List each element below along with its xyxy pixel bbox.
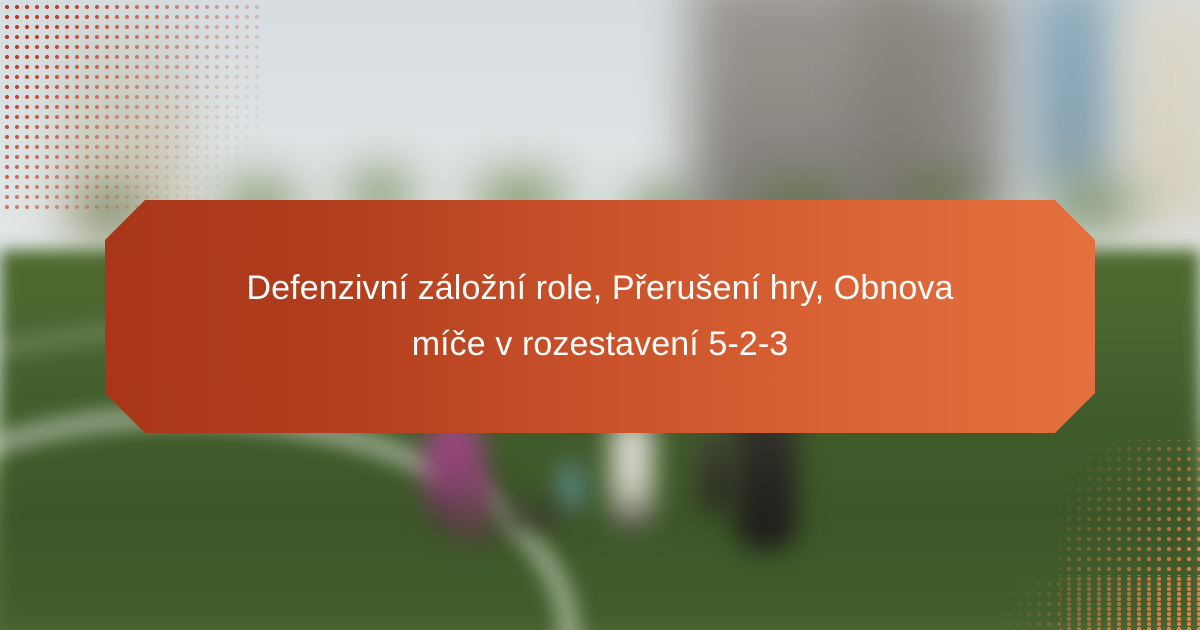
banner-title-text: Defenzivní záložní role, Přerušení hry, …: [205, 261, 995, 371]
player-figure-teal: [560, 462, 582, 512]
player-figure-white: [610, 420, 654, 532]
title-banner: Defenzivní záložní role, Přerušení hry, …: [105, 200, 1095, 433]
social-card: Defenzivní záložní role, Přerušení hry, …: [0, 0, 1200, 630]
player-shadow-blob: [495, 498, 565, 532]
player-figure-dark-leg: [700, 432, 734, 512]
halftone-dots-top-left: [0, 0, 260, 215]
player-figure-pink-leg: [452, 470, 492, 545]
halftone-dots-bottom-right-band: [1000, 575, 1200, 630]
